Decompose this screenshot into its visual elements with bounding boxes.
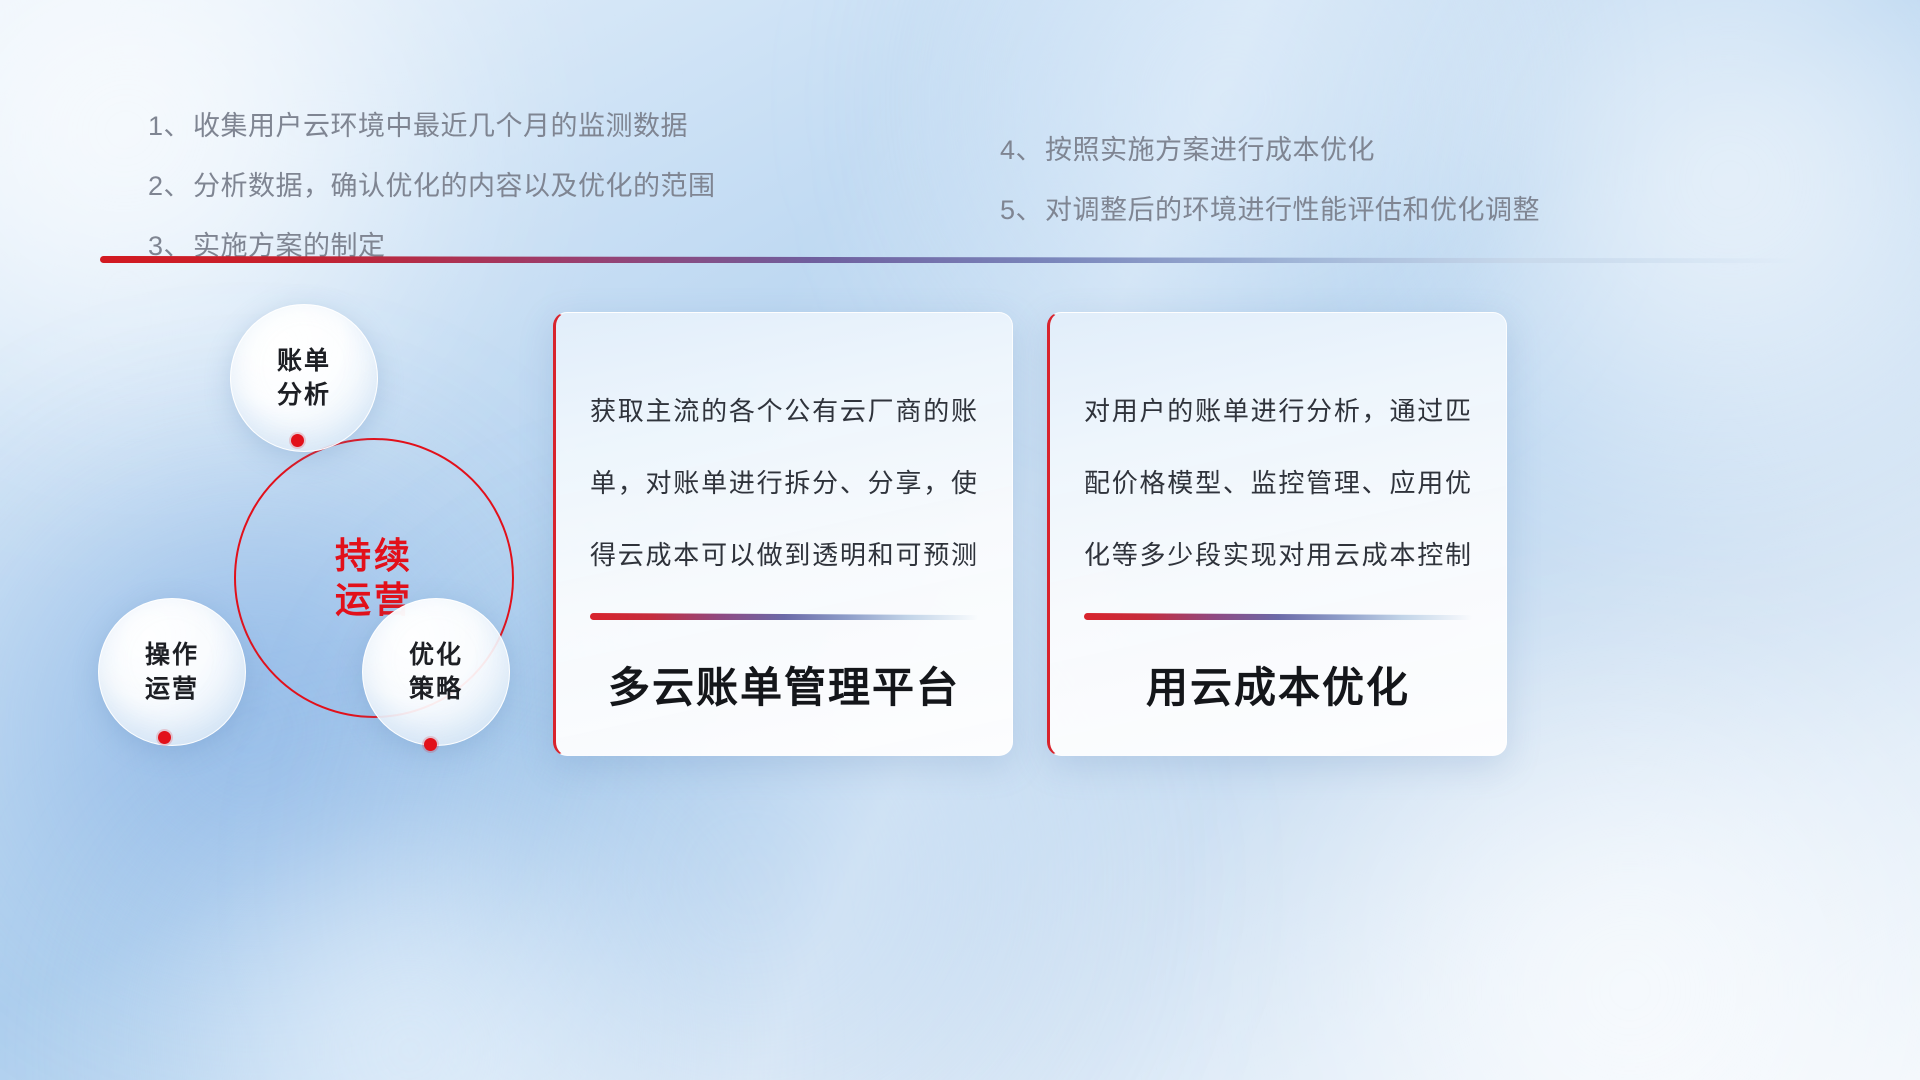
- feature-card-cost-optimization[interactable]: 对用户的账单进行分析，通过匹配价格模型、监控管理、应用优化等多少段实现对用云成本…: [1047, 312, 1507, 756]
- list-item: 5、 对调整后的环境进行性能评估和优化调整: [1000, 180, 1720, 240]
- connector-dot-top: [291, 434, 304, 447]
- feature-card-title: 多云账单管理平台: [590, 620, 978, 755]
- feature-card-body: 对用户的账单进行分析，通过匹配价格模型、监控管理、应用优化等多少段实现对用云成本…: [1084, 375, 1472, 591]
- feature-card-title: 用云成本优化: [1084, 620, 1472, 755]
- connector-dot-right: [424, 738, 437, 751]
- list-item: 1、 收集用户云环境中最近几个月的监测数据: [148, 96, 848, 156]
- list-item: 3、 实施方案的制定: [148, 216, 848, 276]
- list-item-index: 1、: [148, 96, 191, 156]
- diagram-node-optimization-strategy[interactable]: 优化 策略: [362, 598, 510, 746]
- list-item-index: 4、: [1000, 120, 1043, 180]
- continuous-operations-diagram: 持续 运营 账单 分析 操作 运营 优化 策略: [80, 286, 550, 766]
- list-item-label: 实施方案的制定: [193, 216, 386, 276]
- diagram-node-label-line2: 策略: [409, 672, 463, 706]
- diagram-node-label-line2: 运营: [145, 672, 199, 706]
- list-item-label: 对调整后的环境进行性能评估和优化调整: [1045, 180, 1540, 240]
- feature-card-divider: [590, 613, 978, 620]
- diagram-node-bill-analysis[interactable]: 账单 分析: [230, 304, 378, 452]
- feature-card-multicloud-billing[interactable]: 获取主流的各个公有云厂商的账单，对账单进行拆分、分享，使得云成本可以做到透明和可…: [553, 312, 1013, 756]
- list-item-label: 收集用户云环境中最近几个月的监测数据: [193, 96, 688, 156]
- center-ring-label-line1: 持续: [335, 534, 413, 578]
- feature-card-divider: [1084, 613, 1472, 620]
- list-item-index: 5、: [1000, 180, 1043, 240]
- list-item: 4、 按照实施方案进行成本优化: [1000, 120, 1720, 180]
- connector-dot-left: [158, 731, 171, 744]
- diagram-node-label-line1: 操作: [145, 638, 199, 672]
- list-item-label: 分析数据，确认优化的内容以及优化的范围: [193, 156, 716, 216]
- list-item-label: 按照实施方案进行成本优化: [1045, 120, 1375, 180]
- steps-right-column: 4、 按照实施方案进行成本优化 5、 对调整后的环境进行性能评估和优化调整: [1000, 120, 1720, 240]
- diagram-node-operations[interactable]: 操作 运营: [98, 598, 246, 746]
- list-item-index: 3、: [148, 216, 191, 276]
- list-item: 2、 分析数据，确认优化的内容以及优化的范围: [148, 156, 848, 216]
- steps-left-column: 1、 收集用户云环境中最近几个月的监测数据 2、 分析数据，确认优化的内容以及优…: [148, 96, 848, 276]
- diagram-node-label-line2: 分析: [277, 378, 331, 412]
- feature-card-body: 获取主流的各个公有云厂商的账单，对账单进行拆分、分享，使得云成本可以做到透明和可…: [590, 375, 978, 591]
- diagram-node-label-line1: 账单: [277, 344, 331, 378]
- section-divider-rule: [100, 256, 1800, 263]
- diagram-node-label-line1: 优化: [409, 638, 463, 672]
- list-item-index: 2、: [148, 156, 191, 216]
